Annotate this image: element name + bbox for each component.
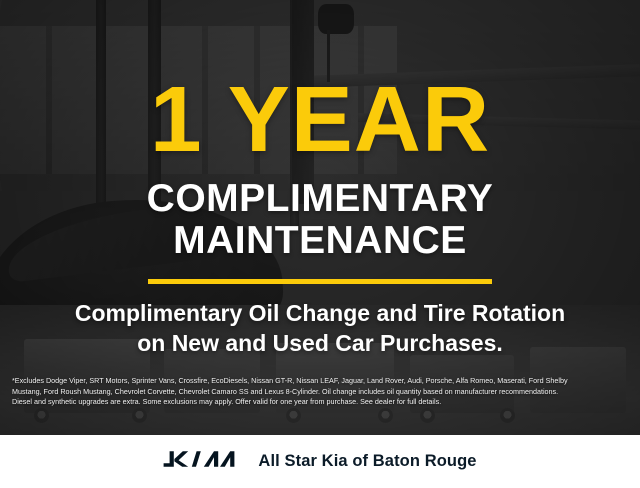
disclaimer-fine-print: *Excludes Dodge Viper, SRT Motors, Sprin…	[12, 376, 628, 408]
offer-tagline: Complimentary Oil Change and Tire Rotati…	[0, 284, 640, 359]
headline-1-year: 1 YEAR	[0, 0, 640, 162]
promotional-banner: 1 YEAR COMPLIMENTARY MAINTENANCE Complim…	[0, 0, 640, 488]
tagline-line-1: Complimentary Oil Change and Tire Rotati…	[0, 299, 640, 329]
kia-logo-icon	[163, 448, 241, 475]
offer-content: 1 YEAR COMPLIMENTARY MAINTENANCE Complim…	[0, 0, 640, 359]
subheadline-line-1: COMPLIMENTARY	[0, 178, 640, 220]
subheadline: COMPLIMENTARY MAINTENANCE	[0, 162, 640, 262]
dealer-footer: All Star Kia of Baton Rouge	[0, 435, 640, 488]
disclaimer-line-1: *Excludes Dodge Viper, SRT Motors, Sprin…	[12, 376, 628, 387]
subheadline-line-2: MAINTENANCE	[0, 220, 640, 262]
disclaimer-line-3: Diesel and synthetic upgrades are extra.…	[12, 397, 628, 408]
dealer-name-label: All Star Kia of Baton Rouge	[258, 452, 476, 471]
disclaimer-line-2: Mustang, Ford Roush Mustang, Chevrolet C…	[12, 387, 628, 398]
tagline-line-2: on New and Used Car Purchases.	[0, 329, 640, 359]
